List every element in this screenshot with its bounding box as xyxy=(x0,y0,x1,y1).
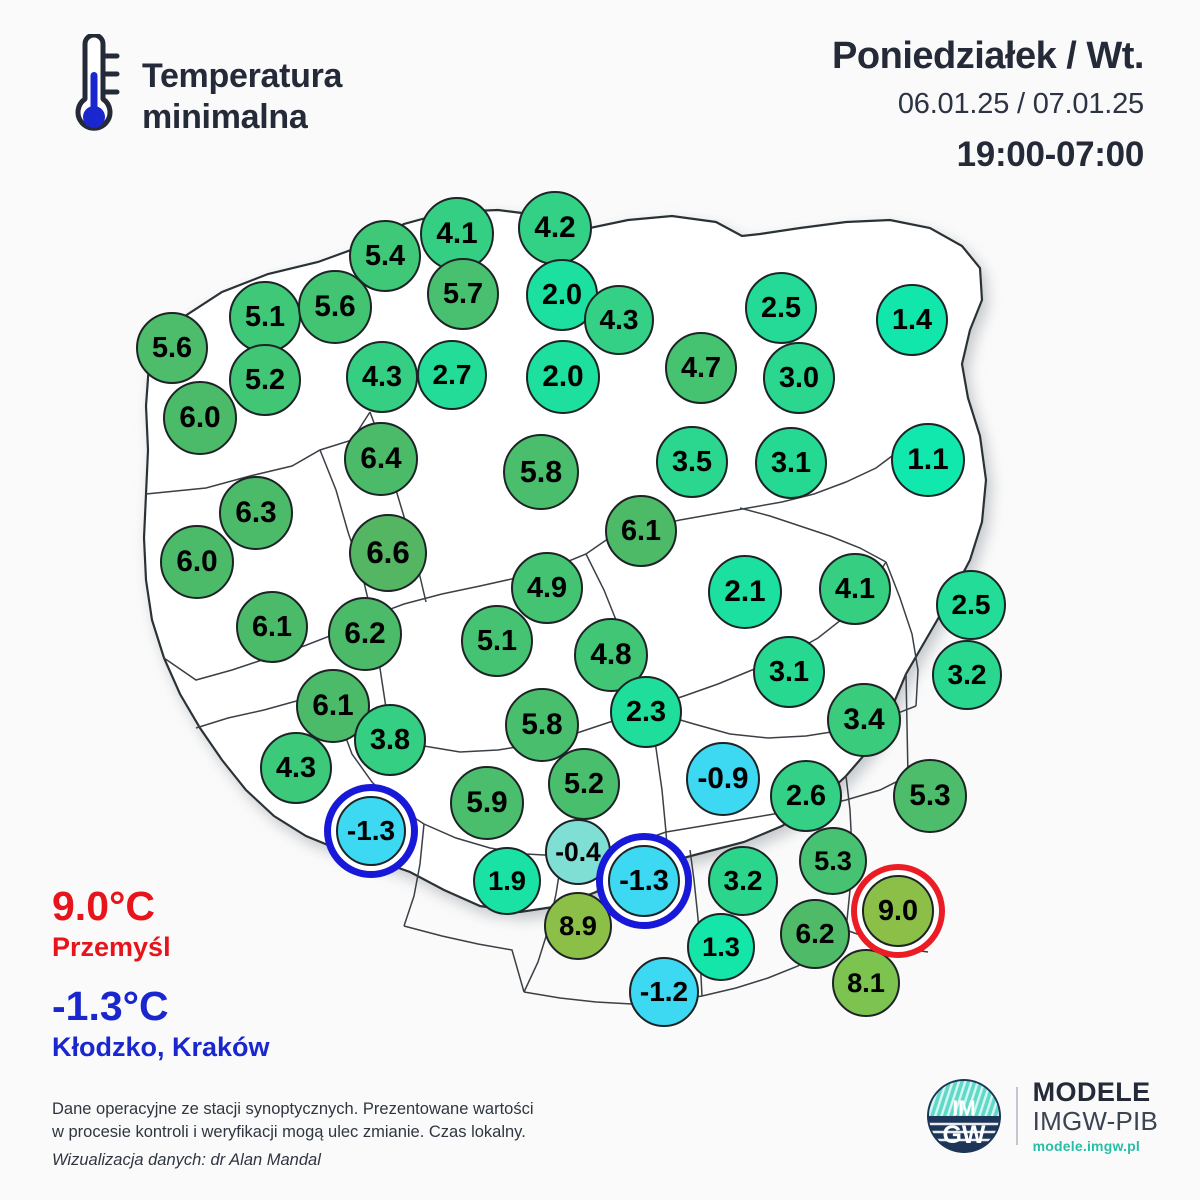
station-bubble: 5.4 xyxy=(349,220,421,292)
station-bubble: 1.9 xyxy=(473,847,541,915)
logo-mark-bottom: GW xyxy=(942,1121,985,1149)
station-bubble: 3.5 xyxy=(656,426,728,498)
station-bubble: -0.4 xyxy=(545,819,611,885)
station-bubble: 4.2 xyxy=(518,191,592,265)
station-bubble: 4.3 xyxy=(346,341,418,413)
min-temp-value: -1.3°C xyxy=(52,985,270,1028)
visualization-credit: Wizualizacja danych: dr Alan Mandal xyxy=(52,1149,534,1172)
station-bubble: 4.9 xyxy=(511,552,583,624)
station-bubble: 5.1 xyxy=(461,605,533,677)
station-bubble: 2.5 xyxy=(936,570,1006,640)
logo-url[interactable]: modele.imgw.pl xyxy=(1033,1139,1158,1154)
disclaimer: Dane operacyjne ze stacji synoptycznych.… xyxy=(52,1098,534,1172)
station-bubble: 6.4 xyxy=(344,422,418,496)
station-bubble: 2.3 xyxy=(610,676,682,748)
station-bubble: 4.1 xyxy=(819,553,891,625)
station-bubble: -1.3 xyxy=(608,845,680,917)
station-bubble: 2.7 xyxy=(417,340,487,410)
max-temp-value: 9.0°C xyxy=(52,885,270,928)
disclaimer-line-2: w procesie kontroli i weryfikacji mogą u… xyxy=(52,1121,534,1144)
imgw-logo-icon: IM GW xyxy=(927,1079,1001,1153)
station-bubble: 3.8 xyxy=(354,704,426,776)
logo-mark-top: IM xyxy=(952,1097,975,1120)
station-bubble: 6.0 xyxy=(163,381,237,455)
weather-map-infographic: Temperatura minimalna Poniedziałek / Wt.… xyxy=(0,0,1200,1200)
station-bubble: 4.7 xyxy=(665,332,737,404)
station-bubble: 6.1 xyxy=(605,495,677,567)
station-bubble: 4.3 xyxy=(260,732,332,804)
station-bubble: 5.6 xyxy=(136,312,208,384)
disclaimer-line-1: Dane operacyjne ze stacji synoptycznych.… xyxy=(52,1098,534,1121)
station-bubble: -1.3 xyxy=(336,796,406,866)
station-bubble: 1.4 xyxy=(876,284,948,356)
logo-subtitle: IMGW-PIB xyxy=(1033,1108,1158,1136)
station-bubble: 8.9 xyxy=(544,892,612,960)
station-bubble: -1.2 xyxy=(629,957,699,1027)
station-bubble: 5.1 xyxy=(229,281,301,353)
station-bubble: 2.0 xyxy=(526,340,600,414)
forecast-day: Poniedziałek / Wt. xyxy=(832,36,1144,78)
station-bubble: 5.2 xyxy=(548,748,620,820)
station-bubble: 6.1 xyxy=(236,591,308,663)
station-bubble: 2.6 xyxy=(770,760,842,832)
station-bubble: 3.1 xyxy=(755,427,827,499)
station-bubble: 6.3 xyxy=(219,476,293,550)
station-bubble: 5.7 xyxy=(427,258,499,330)
station-bubble: 1.3 xyxy=(687,913,755,981)
forecast-date: 06.01.25 / 07.01.25 xyxy=(832,88,1144,121)
station-bubble: 5.3 xyxy=(799,827,867,895)
station-bubble: 6.2 xyxy=(780,899,850,969)
station-bubble: 6.0 xyxy=(160,525,234,599)
extremes-legend: 9.0°C Przemyśl -1.3°C Kłodzko, Kraków xyxy=(52,885,270,1063)
station-bubble: 5.9 xyxy=(450,766,524,840)
station-bubble: 3.0 xyxy=(763,342,835,414)
station-bubble: 3.4 xyxy=(827,683,901,757)
station-bubble: 9.0 xyxy=(862,875,934,947)
station-bubble: 3.2 xyxy=(708,846,778,916)
station-bubble: 5.8 xyxy=(503,434,579,510)
station-bubble: 6.2 xyxy=(328,597,402,671)
page-title: Temperatura minimalna xyxy=(142,56,342,139)
header-left: Temperatura minimalna xyxy=(62,34,342,144)
station-bubble: 2.5 xyxy=(745,272,817,344)
station-bubble: 3.2 xyxy=(932,640,1002,710)
station-bubble: -0.9 xyxy=(686,742,760,816)
station-bubble: 5.2 xyxy=(229,344,301,416)
logo-title: MODELE xyxy=(1033,1078,1158,1107)
imgw-logo[interactable]: IM GW MODELE IMGW-PIB modele.imgw.pl xyxy=(927,1078,1158,1154)
station-bubble: 4.3 xyxy=(584,285,654,355)
station-bubble: 8.1 xyxy=(832,949,900,1017)
min-temp-station: Kłodzko, Kraków xyxy=(52,1032,270,1063)
station-bubble: 2.1 xyxy=(708,555,782,629)
station-bubble: 5.3 xyxy=(893,759,967,833)
thermometer-icon xyxy=(62,34,120,144)
max-temp-station: Przemyśl xyxy=(52,932,270,963)
station-bubble: 6.6 xyxy=(349,514,427,592)
station-bubble: 3.1 xyxy=(753,636,825,708)
station-bubble: 1.1 xyxy=(891,423,965,497)
logo-divider xyxy=(1016,1087,1018,1145)
